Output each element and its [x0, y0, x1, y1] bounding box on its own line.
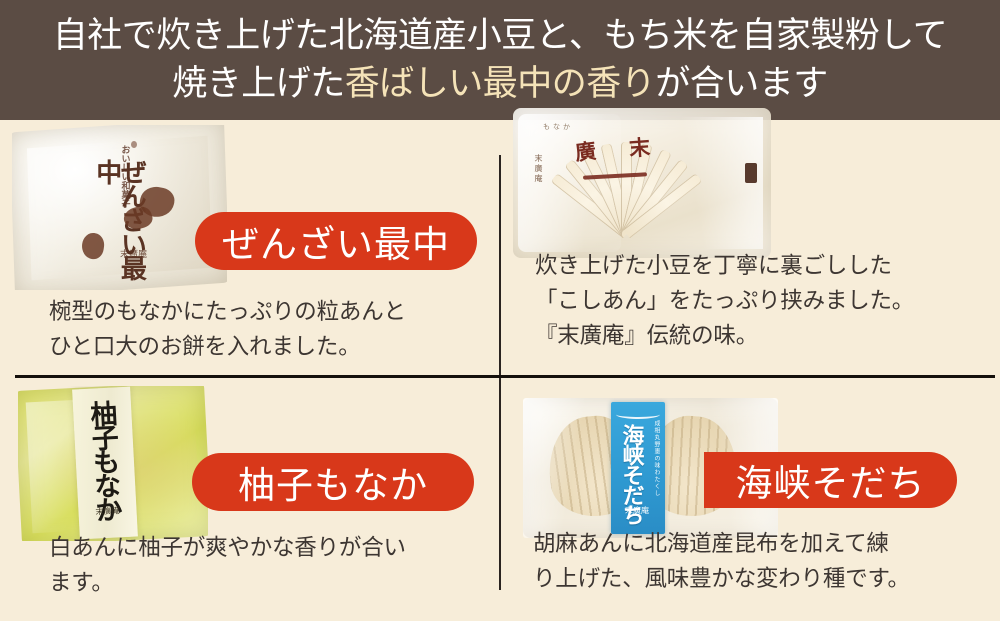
- description-line: り上げた、風味豊かな変わり種です。: [533, 561, 910, 596]
- package-seal-tab-icon: [745, 163, 757, 183]
- package-blue-label: 海峡そだち 成相丸野憲の味わたくし 末廣庵: [611, 402, 665, 534]
- description-line: 椀型のもなかにたっぷりの粒あんと: [49, 294, 406, 329]
- package-kanji-sue: 末: [628, 131, 651, 162]
- header-banner: 自社で炊き上げた北海道産小豆と、もち米を自家製粉して 焼き上げた香ばしい最中の香…: [0, 0, 1000, 120]
- monaka-fan-shape: [551, 134, 701, 238]
- wave-icon: [616, 410, 660, 419]
- product-description-suehiro: 炊き上げた小豆を丁寧に裏ごしした 「こしあん」をたっぷり挟みました。 『末廣庵』…: [535, 248, 914, 353]
- product-photo-yuzu: 柚子もなか 末廣庵: [18, 386, 208, 541]
- product-grid: おいしい和菓子 ぜんざい最中 末廣庵 ぜんざい最中 椀型のもなかにたっぷりの粒あ…: [0, 120, 1000, 621]
- product-description-kaikyo: 胡麻あんに北海道産昆布を加えて練 り上げた、風味豊かな変わり種です。: [533, 526, 910, 596]
- description-line: 『末廣庵』伝統の味。: [535, 318, 914, 353]
- product-photo-zenzai: おいしい和菓子 ぜんざい最中 末廣庵: [12, 125, 227, 290]
- header-line-2-prefix: 焼き上げた: [172, 64, 345, 103]
- product-badge-yuzu[interactable]: 柚子もなか: [192, 453, 474, 511]
- header-line-1: 自社で炊き上げた北海道産小豆と、もち米を自家製粉して: [53, 12, 948, 60]
- product-card-kaikyo[interactable]: 海峡そだち 成相丸野憲の味わたくし 末廣庵 海峡そだち 胡麻あんに北海道産昆布を…: [501, 378, 1000, 621]
- product-description-zenzai: 椀型のもなかにたっぷりの粒あんと ひと口大のお餅を入れました。: [49, 294, 406, 364]
- description-line: 「こしあん」をたっぷり挟みました。: [535, 283, 914, 318]
- product-badge-zenzai[interactable]: ぜんざい最中: [195, 212, 477, 270]
- package-calligraphy: 柚子もなか: [87, 399, 120, 520]
- package-illustration-icon: [131, 141, 137, 148]
- package-brand-logo: 末廣庵: [625, 505, 649, 516]
- package-sub-text: 成相丸野憲の味わたくし: [652, 420, 661, 497]
- package-kanji-hiro: 廣: [573, 135, 597, 167]
- header-line-2-highlight: 香ばしい最中の香り: [345, 64, 656, 103]
- package-paper-band: 柚子もなか 末廣庵: [72, 387, 138, 540]
- package-brand-logo: 末廣庵: [95, 505, 120, 517]
- description-line: 炊き上げた小豆を丁寧に裏ごしした: [535, 248, 914, 283]
- product-card-zenzai[interactable]: おいしい和菓子 ぜんざい最中 末廣庵 ぜんざい最中 椀型のもなかにたっぷりの粒あ…: [0, 120, 499, 375]
- product-card-yuzu[interactable]: 柚子もなか 末廣庵 柚子もなか 白あんに柚子が爽やかな香りが合い ます。: [0, 378, 499, 621]
- header-line-2-suffix: が合います: [655, 64, 828, 103]
- description-line: 胡麻あんに北海道産昆布を加えて練: [533, 526, 910, 561]
- description-line: ます。: [49, 565, 406, 600]
- package-brand-logo: 末廣庵: [120, 247, 147, 260]
- product-badge-kaikyo[interactable]: 海峡そだち: [704, 452, 957, 508]
- product-card-suehiro[interactable]: 廣 末 末廣庵 もなか 末廣もなか 炊き上げた小豆を丁寧に裏ごしした 「こしあん…: [501, 120, 1000, 375]
- header-line-2: 焼き上げた香ばしい最中の香りが合います: [172, 60, 828, 108]
- package-top-text: もなか: [543, 122, 573, 132]
- product-photo-suehiro: 廣 末 末廣庵 もなか: [513, 108, 771, 258]
- description-line: 白あんに柚子が爽やかな香りが合い: [49, 530, 406, 565]
- product-description-yuzu: 白あんに柚子が爽やかな香りが合い ます。: [49, 530, 406, 600]
- description-line: ひと口大のお餅を入れました。: [49, 329, 406, 364]
- package-side-text: 末廣庵: [533, 154, 544, 184]
